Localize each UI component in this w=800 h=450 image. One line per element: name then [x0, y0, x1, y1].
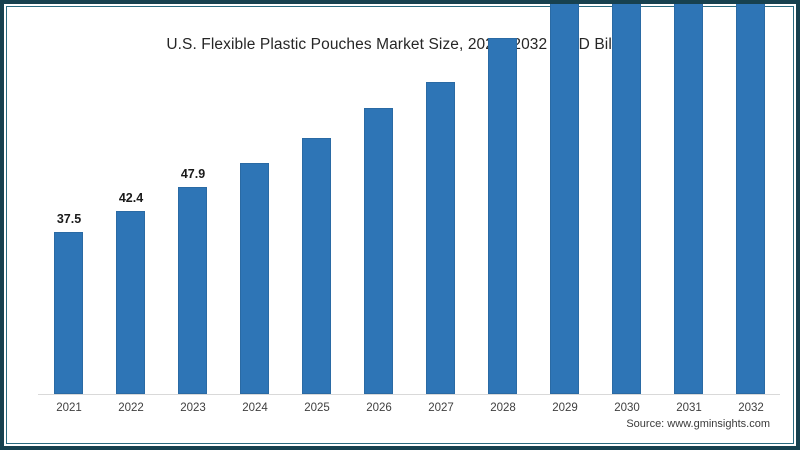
bar-column: [720, 74, 782, 394]
bar-2023[interactable]: [178, 187, 207, 394]
source-caption: Source: www.gminsights.com: [626, 418, 770, 430]
x-axis-tick-2023: 2023: [162, 402, 224, 414]
bar-2031[interactable]: [674, 0, 703, 394]
bar-column: 42.4: [100, 74, 162, 394]
bar-2026[interactable]: [364, 108, 393, 394]
x-axis-tick-2024: 2024: [224, 402, 286, 414]
bar-column: 47.9: [162, 74, 224, 394]
bar-value-label-2022: 42.4: [100, 191, 162, 205]
bar-value-label-2023: 47.9: [162, 167, 224, 181]
bar-2024[interactable]: [240, 163, 269, 394]
bar-2032[interactable]: [736, 0, 765, 394]
bar-2027[interactable]: [426, 82, 455, 394]
chart-image-frame: U.S. Flexible Plastic Pouches Market Siz…: [0, 0, 800, 450]
x-axis-tick-2028: 2028: [472, 402, 534, 414]
bar-column: [224, 74, 286, 394]
x-axis-line: [38, 394, 780, 395]
bar-2022[interactable]: [116, 211, 145, 394]
x-axis-tick-2027: 2027: [410, 402, 472, 414]
bar-column: [472, 74, 534, 394]
bar-2030[interactable]: [612, 0, 641, 394]
bar-2021[interactable]: [54, 232, 83, 394]
bar-column: [286, 74, 348, 394]
x-axis-tick-2032: 2032: [720, 402, 782, 414]
bar-value-label-2021: 37.5: [38, 212, 100, 226]
bar-2029[interactable]: [550, 3, 579, 394]
bar-column: [410, 74, 472, 394]
x-axis-tick-2026: 2026: [348, 402, 410, 414]
x-axis-tick-2021: 2021: [38, 402, 100, 414]
bar-column: [348, 74, 410, 394]
x-axis-tick-2029: 2029: [534, 402, 596, 414]
bar-column: [658, 74, 720, 394]
bar-chart-plot-area: 37.542.447.9: [38, 74, 778, 394]
x-axis-tick-2030: 2030: [596, 402, 658, 414]
bar-column: 37.5: [38, 74, 100, 394]
x-axis-tick-2022: 2022: [100, 402, 162, 414]
bar-column: [596, 74, 658, 394]
x-axis-tick-2025: 2025: [286, 402, 348, 414]
bar-2028[interactable]: [488, 38, 517, 394]
bar-column: [534, 74, 596, 394]
x-axis-tick-2031: 2031: [658, 402, 720, 414]
bar-2025[interactable]: [302, 138, 331, 394]
